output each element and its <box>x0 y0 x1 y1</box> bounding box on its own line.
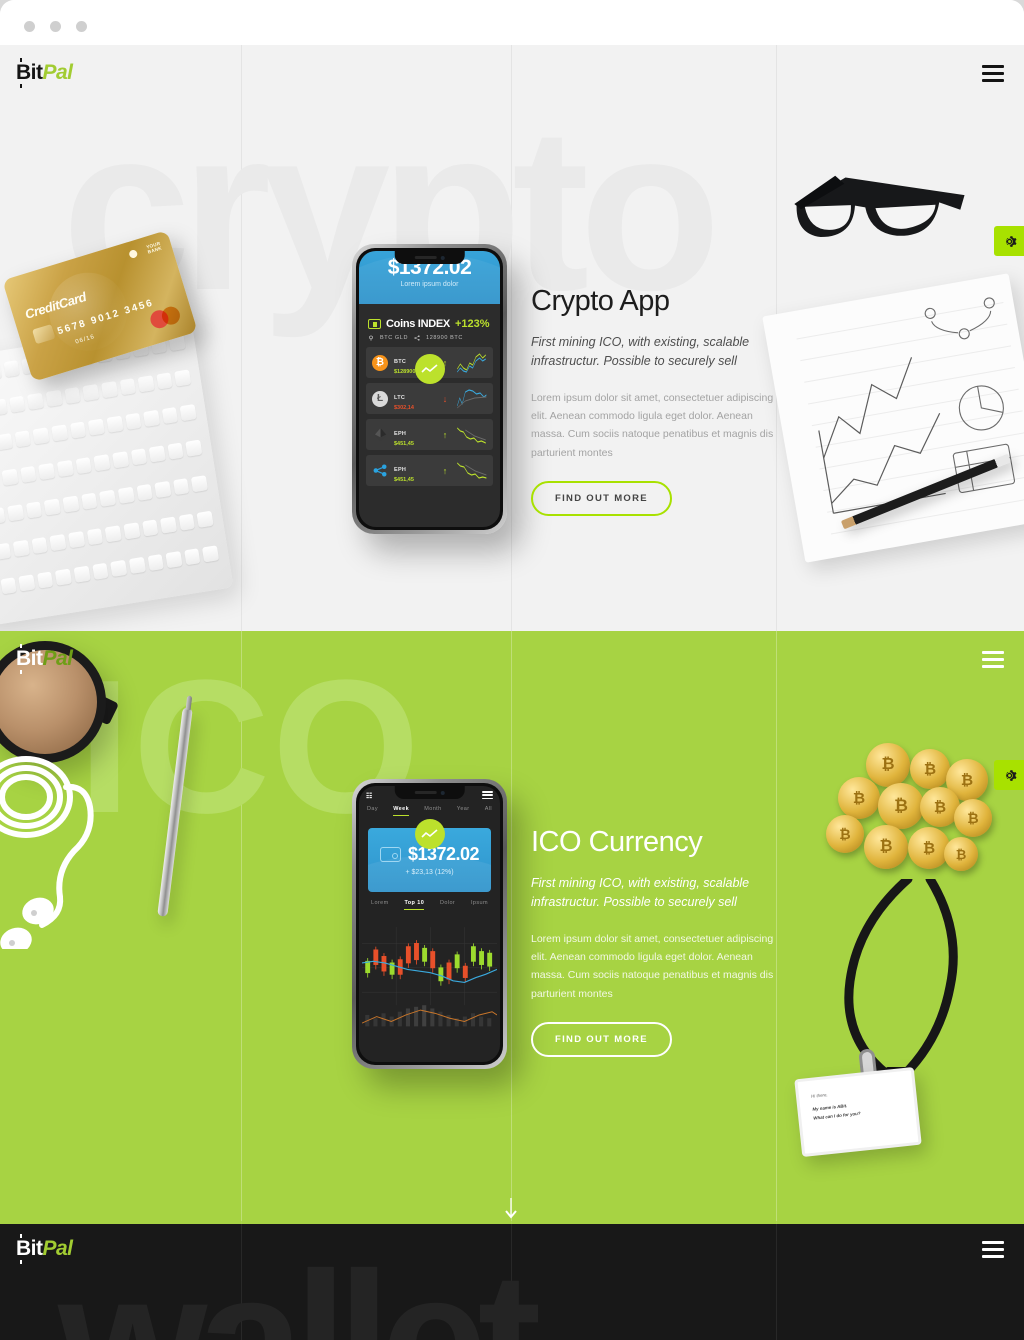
chart-svg <box>362 916 497 1044</box>
find-out-more-button[interactable]: FIND OUT MORE <box>531 481 672 516</box>
logo-bitpal[interactable]: Bit Pal <box>16 1237 73 1261</box>
range-tabs: Day Week Month Year All <box>359 803 500 816</box>
notebook-photo <box>762 273 1024 563</box>
ico-currency-phone-mockup: ☷ Day Week Month Year All <box>352 779 507 1069</box>
wallet-amount: $1372.02 <box>408 844 479 865</box>
page-title: ICO Currency <box>531 827 781 859</box>
coin-row[interactable]: EPH $451,45 ↑ <box>366 455 493 486</box>
scroll-down-arrow[interactable] <box>501 1196 521 1221</box>
earphones-photo <box>0 729 178 949</box>
coin-price: $451,45 <box>394 441 434 447</box>
browser-titlebar <box>0 0 1024 45</box>
coin-symbol: LTC <box>394 395 405 401</box>
candlestick-chart <box>359 916 500 1049</box>
gold-coins-photo: ₿ ₿ ₿ ₿ ₿ ₿ ₿ ₿ ₿ ₿ ₿ <box>820 741 1010 886</box>
crypto-app-phone-mockup: ☷ $1372.02 Lorem ipsum dolor <box>352 244 507 534</box>
ripple-icon <box>372 463 388 479</box>
coin-symbol: EPH <box>394 431 406 437</box>
coin-price: $302,14 <box>394 405 434 411</box>
window-controls <box>24 21 87 32</box>
list-tab-lorem[interactable]: Lorem <box>371 900 389 910</box>
coin-trend-up-icon: ↑ <box>440 466 450 476</box>
coin-price: $451,45 <box>394 477 434 483</box>
eth-icon <box>372 427 388 443</box>
logo-bitpal[interactable]: Bit Pal <box>16 61 73 85</box>
coin-symbol: BTC <box>394 359 406 365</box>
coin-symbol: EPH <box>394 467 406 473</box>
index-volume: 128900 BTC <box>426 335 463 341</box>
gear-icon <box>1001 767 1018 784</box>
coins-index-label: Coins INDEX <box>386 318 450 330</box>
hamburger-menu-icon[interactable] <box>982 65 1004 82</box>
settings-gear-tab[interactable] <box>994 760 1024 790</box>
balance-subtitle: Lorem ipsum dolor <box>359 281 500 288</box>
card-title: CreditCard <box>23 289 88 322</box>
coin-row[interactable]: EPH $451,45 ↑ <box>366 419 493 450</box>
browser-window: crypto YOUR BANK CreditCard <box>0 0 1024 1340</box>
hamburger-menu-icon[interactable] <box>982 651 1004 668</box>
coin-sparkline <box>456 388 487 410</box>
wallet-icon <box>380 847 401 862</box>
logo-pal: Pal <box>43 61 73 85</box>
lead-paragraph: First mining ICO, with existing, scalabl… <box>531 333 781 372</box>
coin-sparkline <box>456 352 487 374</box>
ico-currency-content: ICO Currency First mining ICO, with exis… <box>531 827 781 1057</box>
index-meta: BTC GLD 128900 BTC <box>359 332 500 347</box>
range-tab-month[interactable]: Month <box>424 806 441 816</box>
page-title: Crypto App <box>531 286 781 318</box>
logo-bit: Bit <box>16 647 43 671</box>
lead-paragraph: First mining ICO, with existing, scalabl… <box>531 874 781 913</box>
range-tab-year[interactable]: Year <box>457 806 470 816</box>
section-wallet: wallet Bit Pal <box>0 1221 1024 1340</box>
arrow-down-icon <box>501 1196 521 1221</box>
coin-trend-down-icon: ↓ <box>440 394 450 404</box>
range-tab-all[interactable]: All <box>485 806 492 816</box>
range-tab-week[interactable]: Week <box>393 806 409 816</box>
wallet-delta: + $23,13 (12%) <box>405 869 453 876</box>
coins-index-change: +123% <box>455 318 490 330</box>
coin-row[interactable]: Ł LTC $302,14 ↓ <box>366 383 493 414</box>
pin-icon <box>368 335 374 341</box>
btc-icon: ₿ <box>372 355 388 371</box>
index-chip-icon <box>368 319 381 329</box>
list-tab-ipsum[interactable]: Ipsum <box>471 900 488 910</box>
logo-bit: Bit <box>16 61 43 85</box>
app-topbar: ☷ <box>359 786 500 803</box>
index-pair: BTC GLD <box>380 335 408 341</box>
body-paragraph: Lorem ipsum dolor sit amet, consectetuer… <box>531 389 781 463</box>
settings-gear-tab[interactable] <box>994 226 1024 256</box>
bank-logo-icon <box>128 249 138 259</box>
glasses-photo <box>784 146 986 278</box>
minimize-dot[interactable] <box>50 21 61 32</box>
coins-index-header: Coins INDEX +123% <box>359 304 500 332</box>
range-tab-day[interactable]: Day <box>367 806 378 816</box>
gear-icon <box>1001 233 1018 250</box>
trend-bubble-icon <box>415 819 445 849</box>
ico-app-screen: ☷ Day Week Month Year All <box>359 786 500 1062</box>
badge-line-1: Hi there, <box>811 1084 901 1098</box>
header-ico: Bit Pal <box>0 631 1024 687</box>
card-number: 5678 9012 3456 <box>56 297 155 337</box>
find-out-more-button[interactable]: FIND OUT MORE <box>531 1022 672 1057</box>
app-logo-icon: ☷ <box>366 792 372 800</box>
maximize-dot[interactable] <box>76 21 87 32</box>
page-viewport: crypto YOUR BANK CreditCard <box>0 45 1024 1340</box>
section-crypto-app: crypto YOUR BANK CreditCard <box>0 45 1024 631</box>
header-wallet: Bit Pal <box>0 1221 1024 1277</box>
card-bank-name: YOUR BANK <box>146 241 163 255</box>
close-dot[interactable] <box>24 21 35 32</box>
list-tab-dolor[interactable]: Dolor <box>440 900 455 910</box>
body-paragraph: Lorem ipsum dolor sit amet, consectetuer… <box>531 930 781 1004</box>
logo-bitpal[interactable]: Bit Pal <box>16 647 73 671</box>
trend-bubble-icon <box>415 354 445 384</box>
list-tab-top10[interactable]: Top 10 <box>404 900 424 910</box>
ltc-icon: Ł <box>372 391 388 407</box>
crypto-app-content: Crypto App First mining ICO, with existi… <box>531 286 781 516</box>
header-crypto: Bit Pal <box>0 45 1024 101</box>
logo-pal: Pal <box>43 1237 73 1261</box>
hamburger-menu-icon[interactable] <box>982 1241 1004 1258</box>
card-expiry: 06/16 <box>75 334 96 346</box>
crypto-app-screen: ☷ $1372.02 Lorem ipsum dolor <box>359 251 500 527</box>
coin-trend-up-icon: ↑ <box>440 430 450 440</box>
name-badge: Hi there, My name is ABit. What can I do… <box>794 1067 921 1157</box>
coin-sparkline <box>456 424 487 446</box>
list-tabs: Lorem Top 10 Dolor Ipsum <box>359 892 500 910</box>
logo-bit: Bit <box>16 1237 43 1261</box>
app-menu-icon[interactable] <box>482 791 493 801</box>
share-icon <box>414 335 420 341</box>
card-chip-icon <box>32 324 56 344</box>
coin-sparkline <box>456 460 487 482</box>
logo-pal: Pal <box>43 647 73 671</box>
section-ico-currency: ICO <box>0 631 1024 1221</box>
